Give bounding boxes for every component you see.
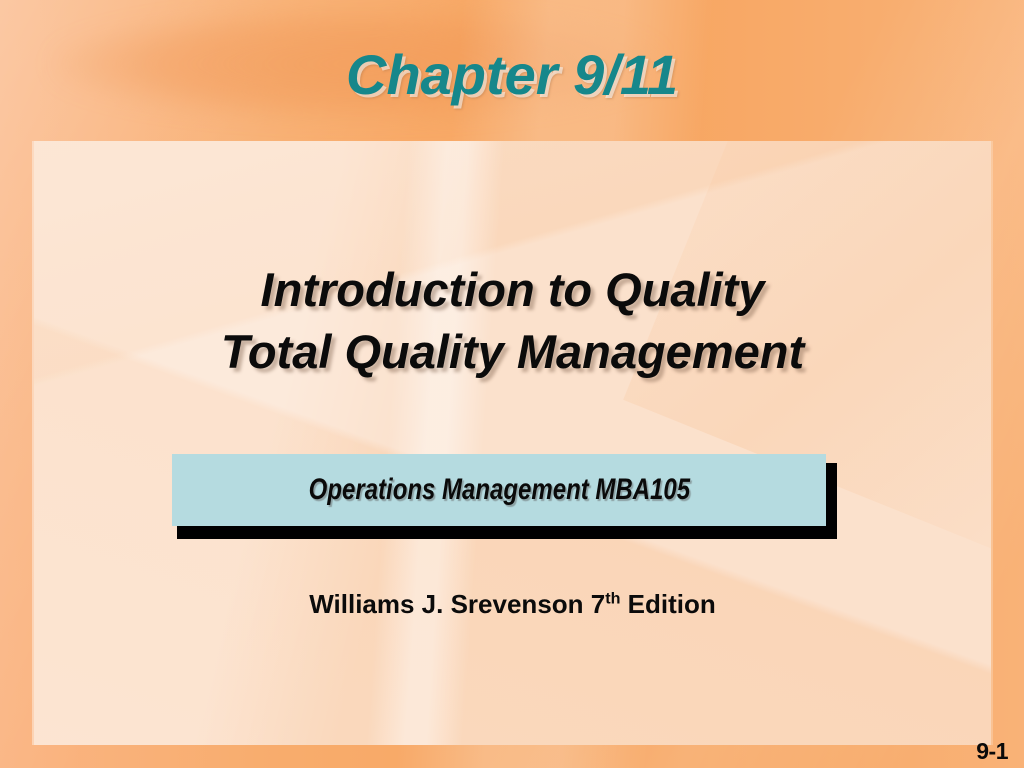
author-name: Williams J. Srevenson 7: [309, 589, 605, 619]
page-number: 9-1: [976, 738, 1008, 765]
edition-ordinal-suffix: th: [605, 589, 620, 607]
content-panel: Introduction to Quality Total Quality Ma…: [34, 141, 991, 745]
main-title: Introduction to Quality Total Quality Ma…: [74, 259, 951, 383]
course-box-fill: Operations Management MBA105: [172, 454, 826, 526]
edition-word: Edition: [620, 589, 715, 619]
main-title-line-1: Introduction to Quality: [74, 259, 951, 321]
slide-canvas: Chapter 9/11 Introduction to Quality Tot…: [0, 0, 1024, 768]
author-line: Williams J. Srevenson 7th Edition: [74, 589, 951, 620]
course-callout-box: Operations Management MBA105: [172, 454, 836, 539]
course-box-label: Operations Management MBA105: [308, 473, 689, 507]
chapter-title: Chapter 9/11: [0, 44, 1024, 106]
main-title-line-2: Total Quality Management: [74, 321, 951, 383]
